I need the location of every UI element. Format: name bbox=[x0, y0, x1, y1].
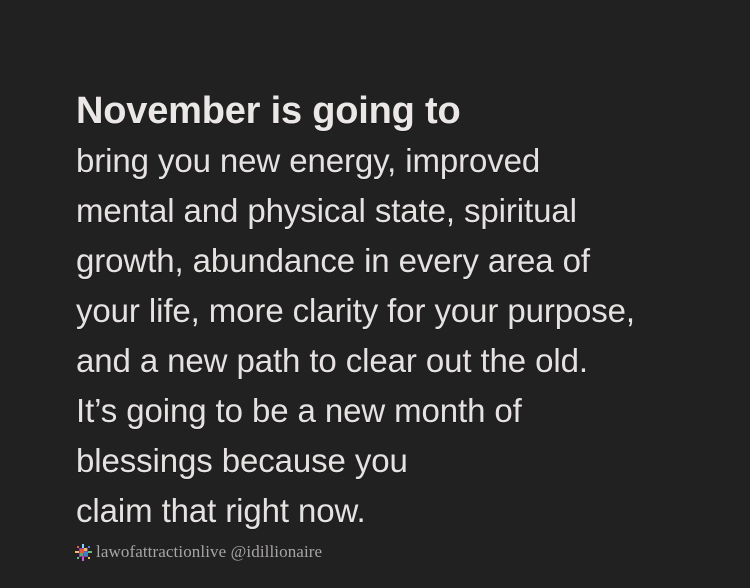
quote-text-block: November is going to bring you new energ… bbox=[76, 86, 716, 536]
sparkle-icon bbox=[74, 543, 93, 562]
quote-card: November is going to bring you new energ… bbox=[0, 0, 750, 588]
quote-line: claim that right now. bbox=[76, 486, 716, 536]
watermark-credit: lawofattractionlive @idillionaire bbox=[74, 542, 322, 562]
quote-line: and a new path to clear out the old. bbox=[76, 336, 716, 386]
quote-line: growth, abundance in every area of bbox=[76, 236, 716, 286]
quote-line: mental and physical state, spiritual bbox=[76, 186, 716, 236]
watermark-text: lawofattractionlive @idillionaire bbox=[96, 542, 322, 562]
quote-body-lines: bring you new energy, improved mental an… bbox=[76, 136, 716, 536]
quote-line: your life, more clarity for your purpose… bbox=[76, 286, 716, 336]
quote-line: It’s going to be a new month of bbox=[76, 386, 716, 436]
quote-line: blessings because you bbox=[76, 436, 716, 486]
quote-line: bring you new energy, improved bbox=[76, 136, 716, 186]
quote-headline: November is going to bbox=[76, 86, 716, 136]
